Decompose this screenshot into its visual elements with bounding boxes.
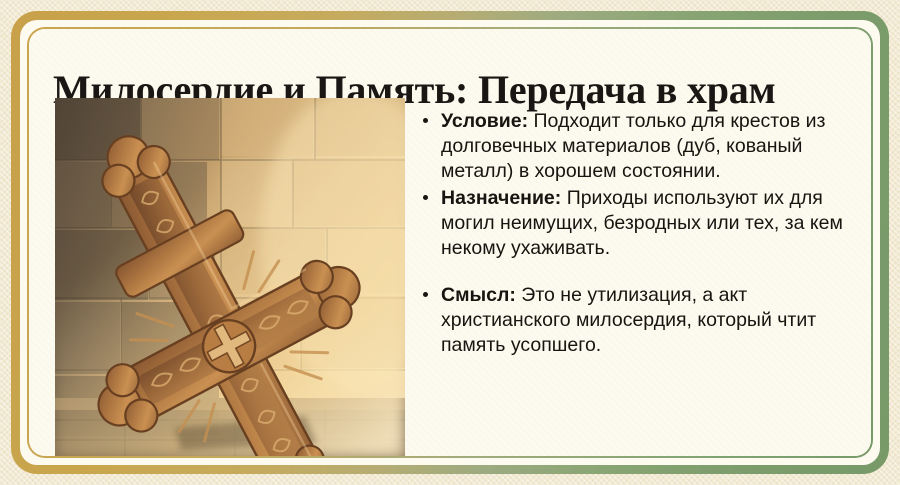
- list-item: Назначение: Приходы используют их для мо…: [421, 186, 859, 261]
- list-item-lead: Условие:: [441, 110, 528, 132]
- bullet-dot-icon: [423, 195, 428, 200]
- bullet-dot-icon: [423, 118, 428, 123]
- bullet-dot-icon: [423, 292, 428, 297]
- slide: Милосердие и Память: Передача в храм: [0, 0, 900, 485]
- bullet-list: Условие: Подходит только для крестов из …: [421, 109, 859, 360]
- wooden-orthodox-cross-photo: [55, 98, 405, 456]
- slide-content-panel: Милосердие и Память: Передача в храм: [29, 29, 871, 456]
- list-item: Условие: Подходит только для крестов из …: [421, 109, 859, 184]
- list-item: Смысл: Это не утилизация, а акт христиан…: [421, 283, 859, 358]
- list-item-lead: Смысл:: [441, 284, 516, 306]
- cross-illustration: [55, 98, 405, 456]
- list-item-lead: Назначение:: [441, 187, 561, 209]
